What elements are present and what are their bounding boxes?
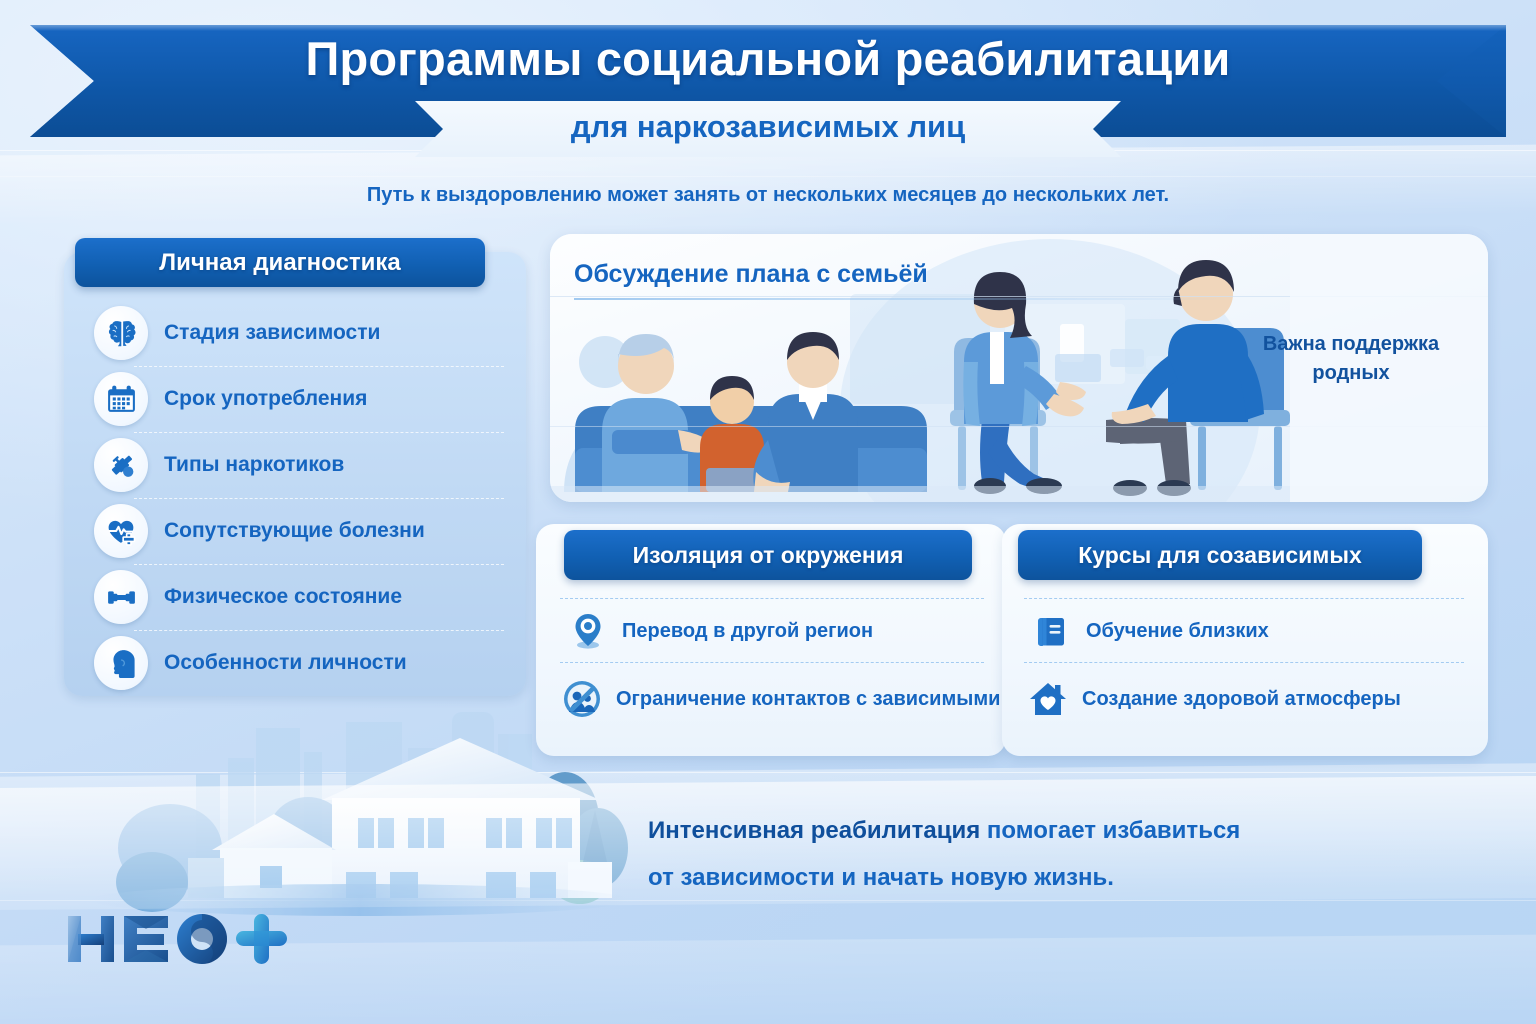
courses-card-heading: Курсы для созависимых bbox=[1018, 530, 1422, 580]
list-item-label: Обучение близких bbox=[1086, 620, 1269, 643]
diagnostics-heading-label: Личная диагностика bbox=[159, 249, 400, 277]
list-item-label: Создание здоровой атмосферы bbox=[1082, 688, 1401, 711]
footer-text-line2: от зависимости и начать новую жизнь. bbox=[648, 855, 1388, 902]
list-item[interactable]: Обучение близких bbox=[1030, 594, 1269, 668]
background-rule-2 bbox=[0, 176, 1536, 177]
no-contact-icon bbox=[560, 677, 604, 721]
list-item[interactable]: Физическое состояние bbox=[64, 564, 526, 630]
list-item-label: Физическое состояние bbox=[164, 585, 402, 609]
isolation-card-heading: Изоляция от окружения bbox=[564, 530, 972, 580]
syringe-icon bbox=[94, 438, 148, 492]
list-item-label: Типы наркотиков bbox=[164, 453, 344, 477]
dumbbell-icon bbox=[94, 570, 148, 624]
list-item-label: Стадия зависимости bbox=[164, 321, 380, 345]
intro-text: Путь к выздоровлению может занять от нес… bbox=[0, 184, 1536, 207]
page-title: Программы социальной реабилитации bbox=[0, 31, 1536, 86]
head-profile-icon bbox=[94, 636, 148, 690]
house-heart-icon bbox=[1026, 677, 1070, 721]
footer-text: Интенсивная реабилитация помогает избави… bbox=[648, 808, 1388, 902]
diagnostics-heading: Личная диагностика bbox=[75, 238, 485, 287]
illustration-title-rule bbox=[574, 298, 1236, 300]
heart-plus-icon bbox=[94, 504, 148, 558]
list-item-label: Перевод в другой регион bbox=[622, 620, 873, 643]
book-icon bbox=[1030, 609, 1074, 653]
list-item-label: Срок употребления bbox=[164, 387, 367, 411]
list-item-label: Сопутствующие болезни bbox=[164, 519, 425, 543]
brain-icon bbox=[94, 306, 148, 360]
list-item[interactable]: Ограничение контактов с зависимыми bbox=[560, 662, 1000, 736]
illustration-note: Важна поддержка родных bbox=[1236, 330, 1466, 388]
list-item[interactable]: Сопутствующие болезни bbox=[64, 498, 526, 564]
family-discussion-card: Обсуждение плана с семьёй Важна поддержк… bbox=[550, 234, 1488, 502]
list-item-label: Ограничение контактов с зависимыми bbox=[616, 688, 1000, 711]
footer-text-strong: Интенсивная реабилитация bbox=[648, 817, 980, 844]
list-item[interactable]: Создание здоровой атмосферы bbox=[1026, 662, 1401, 736]
courses-card-heading-label: Курсы для созависимых bbox=[1078, 542, 1362, 569]
calendar-icon bbox=[94, 372, 148, 426]
list-item[interactable]: Типы наркотиков bbox=[64, 432, 526, 498]
brand-logo[interactable] bbox=[64, 908, 304, 970]
footer-text-rest: помогает избавиться bbox=[980, 817, 1240, 844]
list-item[interactable]: Стадия зависимости bbox=[64, 300, 526, 366]
isolation-card-heading-label: Изоляция от окружения bbox=[633, 542, 904, 569]
list-item-label: Особенности личности bbox=[164, 651, 407, 675]
neo-plus-logo bbox=[64, 908, 304, 970]
diagnostics-list: Стадия зависимости Срок употребления Тип… bbox=[64, 300, 526, 696]
illustration-title: Обсуждение плана с семьёй bbox=[574, 260, 928, 289]
location-pin-icon bbox=[566, 609, 610, 653]
list-item[interactable]: Срок употребления bbox=[64, 366, 526, 432]
list-item[interactable]: Перевод в другой регион bbox=[566, 594, 873, 668]
page-subtitle: для наркозависимых лиц bbox=[415, 109, 1121, 145]
infographic-poster: Программы социальной реабилитации для на… bbox=[0, 0, 1536, 1024]
list-item[interactable]: Особенности личности bbox=[64, 630, 526, 696]
